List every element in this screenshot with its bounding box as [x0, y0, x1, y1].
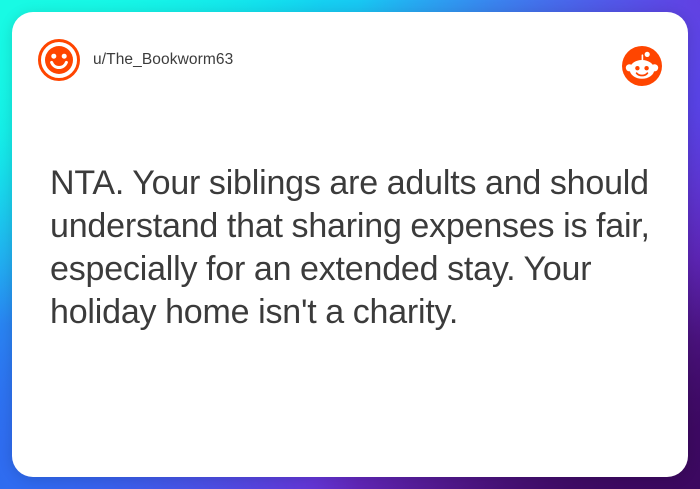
author-block[interactable]: u/The_Bookworm63 [38, 39, 233, 81]
comment-card: u/The_Bookworm63 NTA. Your siblings are … [12, 12, 688, 477]
comment-text: NTA. Your siblings are adults and should… [50, 162, 670, 334]
author-username: u/The_Bookworm63 [93, 52, 233, 68]
smiley-face-avatar-icon[interactable] [38, 39, 80, 81]
reddit-snoo-icon[interactable] [622, 46, 662, 86]
card-header: u/The_Bookworm63 [12, 12, 688, 108]
